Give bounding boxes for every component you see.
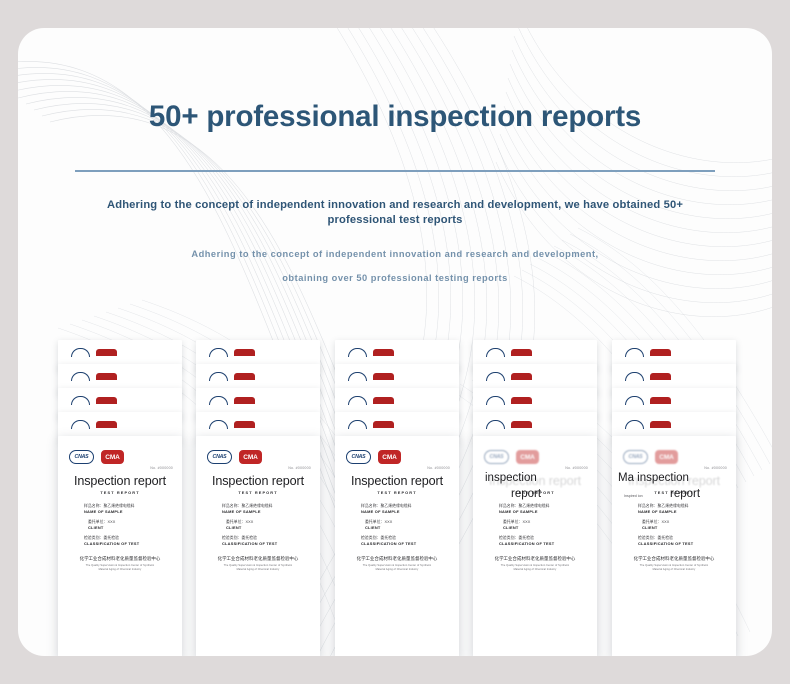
header-block: 50+ professional inspection reports Adhe… <box>18 28 772 290</box>
cma-logo-label: CMA <box>520 454 535 461</box>
certificate-footer: 化学工业合成材料老化质量监督检验中心The Quality Supervisio… <box>335 556 459 571</box>
certificate-field-label-en: CLIENT <box>499 525 530 530</box>
cnas-logo-icon <box>71 396 90 405</box>
certificate-mini-logos <box>348 420 394 429</box>
certificate-mini-logos <box>71 420 117 429</box>
cma-logo-label: CMA <box>243 454 258 461</box>
certificate-field-label-en: CLIENT <box>84 525 115 530</box>
certificate-title: Inspection report <box>612 474 736 488</box>
screenshot-frame: 50+ professional inspection reports Adhe… <box>0 0 790 684</box>
certificate-mini-logos <box>625 348 671 357</box>
certificate-subtitle: TEST REPORT <box>196 490 320 495</box>
certificate-field-label-en: NAME OF SAMPLE <box>361 509 412 514</box>
cnas-logo-label: CNAS <box>352 454 366 460</box>
certificate-footer-en-line-2: Material Aging of Chemical Industry <box>196 568 320 571</box>
cnas-logo-icon <box>209 372 228 381</box>
certificate-field: 样品名称：聚乙烯绝缘电缆料NAME OF SAMPLE <box>84 504 135 514</box>
cma-logo-icon <box>511 397 532 404</box>
certificate-field: 检验类别：委托检验CLASSIFICATION OF TEST <box>499 536 554 546</box>
certificate-field-label-en: CLIENT <box>222 525 253 530</box>
subtitle-secondary: Adhering to the concept of independent i… <box>85 242 705 290</box>
certificate-footer-en-line-2: Material Aging of Chemical Industry <box>58 568 182 571</box>
certificate-number: No. #000000 <box>704 466 727 470</box>
certificate-mini-logos <box>71 396 117 405</box>
certificate-subtitle: TEST REPORT <box>612 490 736 495</box>
certificate-number: No. #000000 <box>427 466 450 470</box>
cnas-logo-icon: CNAS <box>623 450 648 464</box>
certificate-mini-logos <box>486 420 532 429</box>
subtitle-primary: Adhering to the concept of independent i… <box>95 198 695 228</box>
cnas-logo-icon <box>486 372 505 381</box>
certificate-field-label-en: NAME OF SAMPLE <box>499 509 550 514</box>
cnas-logo-icon <box>625 396 644 405</box>
certificate-footer-cn: 化学工业合成材料老化质量监督检验中心 <box>196 556 320 562</box>
cma-logo-icon <box>96 349 117 356</box>
certificate-body: CNASCMANo. #000000Inspection reportTEST … <box>335 436 459 656</box>
certificate-footer: 化学工业合成材料老化质量监督检验中心The Quality Supervisio… <box>612 556 736 571</box>
cma-logo-label: CMA <box>382 454 397 461</box>
certificate-field-label-en: CLASSIFICATION OF TEST <box>361 541 416 546</box>
certificate-front-sheet[interactable]: CNASCMANo. #000000Inspection reportTEST … <box>473 436 597 656</box>
cnas-logo-icon <box>71 348 90 357</box>
certificate-mini-logos <box>486 396 532 405</box>
cma-logo-icon <box>234 349 255 356</box>
cma-logo-icon: CMA <box>239 450 262 464</box>
cnas-logo-icon: CNAS <box>207 450 232 464</box>
certificate-body: CNASCMANo. #000000Inspection reportTEST … <box>612 436 736 656</box>
certificate-footer-cn: 化学工业合成材料老化质量监督检验中心 <box>335 556 459 562</box>
certificate-footer-cn: 化学工业合成材料老化质量监督检验中心 <box>58 556 182 562</box>
cnas-logo-icon <box>486 396 505 405</box>
certificate-field: 检验类别：委托检验CLASSIFICATION OF TEST <box>638 536 693 546</box>
cma-logo-icon <box>373 421 394 428</box>
cma-logo-icon <box>96 421 117 428</box>
cma-logo-icon: CMA <box>516 450 539 464</box>
cnas-logo-icon <box>71 372 90 381</box>
certificate-field: 检验类别：委托检验CLASSIFICATION OF TEST <box>222 536 277 546</box>
certificate-footer-en-line-2: Material Aging of Chemical Industry <box>473 568 597 571</box>
cnas-logo-icon: CNAS <box>346 450 371 464</box>
certificate-field: 样品名称：聚乙烯绝缘电缆料NAME OF SAMPLE <box>499 504 550 514</box>
certificate-mini-logos <box>486 348 532 357</box>
certificate-footer-en-line-1: The Quality Supervision & Inspection Cen… <box>612 564 736 567</box>
certificate-subtitle: TEST REPORT <box>58 490 182 495</box>
certificate-mini-logos <box>71 348 117 357</box>
certificate-field: 检验类别：委托检验CLASSIFICATION OF TEST <box>361 536 416 546</box>
certificate-footer-cn: 化学工业合成材料老化质量监督检验中心 <box>473 556 597 562</box>
certificate-stack[interactable]: CNASCMANo. #000000Inspection reportTEST … <box>612 340 736 586</box>
cma-logo-icon <box>511 349 532 356</box>
certificate-field-label-en: CLASSIFICATION OF TEST <box>84 541 139 546</box>
certificate-body: CNASCMANo. #000000Inspection reportTEST … <box>196 436 320 656</box>
certificate-number: No. #000000 <box>288 466 311 470</box>
certificate-subtitle: TEST REPORT <box>335 490 459 495</box>
certificate-title: Inspection report <box>58 474 182 488</box>
certificate-mini-logos <box>348 348 394 357</box>
certificate-mini-logos <box>71 372 117 381</box>
cma-logo-icon <box>650 349 671 356</box>
cma-logo-icon <box>96 397 117 404</box>
certificate-footer-en-line-2: Material Aging of Chemical Industry <box>612 568 736 571</box>
certificate-field-label-en: NAME OF SAMPLE <box>222 509 273 514</box>
certificate-title: Inspection report <box>196 474 320 488</box>
certificate-stack[interactable]: CNASCMANo. #000000Inspection reportTEST … <box>58 340 182 586</box>
cma-logo-label: CMA <box>659 454 674 461</box>
cma-logo-icon <box>373 349 394 356</box>
cnas-logo-icon <box>348 396 367 405</box>
cnas-logo-icon <box>209 396 228 405</box>
cnas-logo-icon: CNAS <box>484 450 509 464</box>
certificate-footer: 化学工业合成材料老化质量监督检验中心The Quality Supervisio… <box>58 556 182 571</box>
certificate-field: 样品名称：聚乙烯绝缘电缆料NAME OF SAMPLE <box>222 504 273 514</box>
certificate-mini-logos <box>209 348 255 357</box>
cma-logo-icon <box>373 397 394 404</box>
cma-logo-icon <box>234 373 255 380</box>
certificate-field-label-en: CLASSIFICATION OF TEST <box>638 541 693 546</box>
certificate-title: Inspection report <box>473 474 597 488</box>
cnas-logo-label: CNAS <box>75 454 89 460</box>
certificate-field-label-en: CLIENT <box>638 525 669 530</box>
certificate-field-label-en: CLASSIFICATION OF TEST <box>222 541 277 546</box>
subtitle-secondary-line-2: obtaining over 50 professional testing r… <box>85 266 705 290</box>
certificate-mini-logos <box>209 420 255 429</box>
cma-logo-icon <box>511 373 532 380</box>
cma-logo-icon: CMA <box>655 450 678 464</box>
cnas-logo-icon <box>625 420 644 429</box>
cma-logo-label: CMA <box>105 454 120 461</box>
certificate-field: 委托单位：XXXCLIENT <box>638 520 669 530</box>
cma-logo-icon <box>650 373 671 380</box>
certificate-body: CNASCMANo. #000000Inspection reportTEST … <box>58 436 182 656</box>
certificate-body: CNASCMANo. #000000Inspection reportTEST … <box>473 436 597 656</box>
certificate-field: 检验类别：委托检验CLASSIFICATION OF TEST <box>84 536 139 546</box>
cma-logo-icon <box>650 421 671 428</box>
cma-logo-icon <box>234 397 255 404</box>
certificate-logo-row: CNASCMA <box>346 450 401 464</box>
certificate-field-label-en: CLASSIFICATION OF TEST <box>499 541 554 546</box>
cma-logo-icon <box>373 373 394 380</box>
certificate-stacks-row: CNASCMANo. #000000Inspection reportTEST … <box>18 340 772 600</box>
certificate-footer-en-line-1: The Quality Supervision & Inspection Cen… <box>335 564 459 567</box>
cnas-logo-icon <box>625 372 644 381</box>
certificate-footer: 化学工业合成材料老化质量监督检验中心The Quality Supervisio… <box>196 556 320 571</box>
cma-logo-icon: CMA <box>378 450 401 464</box>
certificate-field-label-en: NAME OF SAMPLE <box>84 509 135 514</box>
certificate-title: Inspection report <box>335 474 459 488</box>
certificate-logo-row: CNASCMA <box>623 450 678 464</box>
certificate-subtitle: TEST REPORT <box>473 490 597 495</box>
certificate-footer-en-line-2: Material Aging of Chemical Industry <box>335 568 459 571</box>
certificate-logo-row: CNASCMA <box>69 450 124 464</box>
certificate-field: 委托单位：XXXCLIENT <box>361 520 392 530</box>
certificate-field-label-en: NAME OF SAMPLE <box>638 509 689 514</box>
certificate-field: 委托单位：XXXCLIENT <box>499 520 530 530</box>
certificate-number: No. #000000 <box>150 466 173 470</box>
cma-logo-icon <box>511 421 532 428</box>
title-divider <box>75 170 715 172</box>
certificate-stack[interactable]: CNASCMANo. #000000Inspection reportTEST … <box>335 340 459 586</box>
cnas-logo-label: CNAS <box>629 454 643 460</box>
certificate-field-label-en: CLIENT <box>361 525 392 530</box>
certificate-mini-logos <box>625 420 671 429</box>
certificate-number: No. #000000 <box>565 466 588 470</box>
content-panel: 50+ professional inspection reports Adhe… <box>18 28 772 656</box>
cnas-logo-icon <box>625 348 644 357</box>
certificate-footer-en-line-1: The Quality Supervision & Inspection Cen… <box>58 564 182 567</box>
certificate-field: 样品名称：聚乙烯绝缘电缆料NAME OF SAMPLE <box>361 504 412 514</box>
page-title: 50+ professional inspection reports <box>18 100 772 134</box>
certificate-field: 委托单位：XXXCLIENT <box>84 520 115 530</box>
cnas-logo-icon <box>486 348 505 357</box>
cnas-logo-icon <box>348 420 367 429</box>
cnas-logo-label: CNAS <box>490 454 504 460</box>
cma-logo-icon: CMA <box>101 450 124 464</box>
certificate-footer-cn: 化学工业合成材料老化质量监督检验中心 <box>612 556 736 562</box>
subtitle-secondary-line-1: Adhering to the concept of independent i… <box>85 242 705 266</box>
cma-logo-icon <box>96 373 117 380</box>
certificate-mini-logos <box>209 396 255 405</box>
cnas-logo-icon <box>486 420 505 429</box>
certificate-footer-en-line-1: The Quality Supervision & Inspection Cen… <box>196 564 320 567</box>
certificate-mini-logos <box>625 396 671 405</box>
certificate-front-sheet[interactable]: CNASCMANo. #000000Inspection reportTEST … <box>335 436 459 656</box>
cnas-logo-icon <box>348 348 367 357</box>
cnas-logo-icon <box>348 372 367 381</box>
cnas-logo-icon: CNAS <box>69 450 94 464</box>
cnas-logo-label: CNAS <box>213 454 227 460</box>
certificate-logo-row: CNASCMA <box>484 450 539 464</box>
certificate-footer: 化学工业合成材料老化质量监督检验中心The Quality Supervisio… <box>473 556 597 571</box>
certificate-stack[interactable]: CNASCMANo. #000000Inspection reportTEST … <box>196 340 320 586</box>
cma-logo-icon <box>650 397 671 404</box>
cnas-logo-icon <box>209 348 228 357</box>
certificate-mini-logos <box>348 396 394 405</box>
certificate-stack[interactable]: CNASCMANo. #000000Inspection reportTEST … <box>473 340 597 586</box>
cnas-logo-icon <box>71 420 90 429</box>
certificate-mini-logos <box>625 372 671 381</box>
cma-logo-icon <box>234 421 255 428</box>
cnas-logo-icon <box>209 420 228 429</box>
certificate-front-sheet[interactable]: CNASCMANo. #000000Inspection reportTEST … <box>612 436 736 656</box>
certificate-mini-logos <box>486 372 532 381</box>
certificate-field: 样品名称：聚乙烯绝缘电缆料NAME OF SAMPLE <box>638 504 689 514</box>
certificate-field: 委托单位：XXXCLIENT <box>222 520 253 530</box>
certificate-mini-logos <box>348 372 394 381</box>
certificate-mini-logos <box>209 372 255 381</box>
certificate-logo-row: CNASCMA <box>207 450 262 464</box>
certificate-front-sheet[interactable]: CNASCMANo. #000000Inspection reportTEST … <box>58 436 182 656</box>
certificate-footer-en-line-1: The Quality Supervision & Inspection Cen… <box>473 564 597 567</box>
certificate-front-sheet[interactable]: CNASCMANo. #000000Inspection reportTEST … <box>196 436 320 656</box>
